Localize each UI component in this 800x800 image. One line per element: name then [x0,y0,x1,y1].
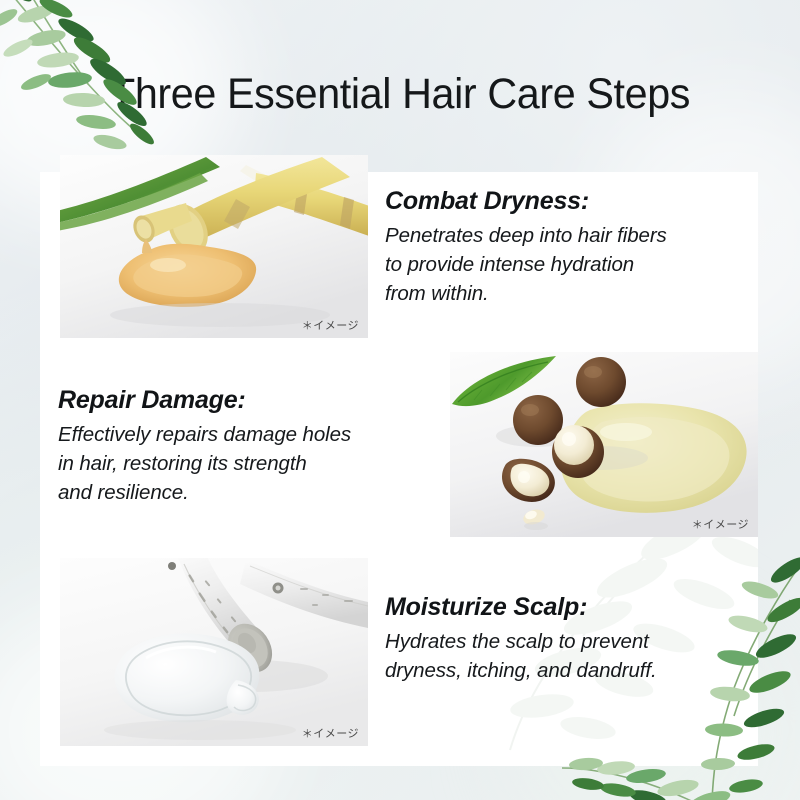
step-2-heading: Repair Damage: [58,385,428,415]
step-2-image: ＊イメージ [450,352,758,537]
step-3-image: ＊イメージ [60,558,368,746]
image-caption: ＊イメージ [302,725,359,741]
step-1-body: Penetrates deep into hair fibers to prov… [385,221,735,308]
page-title: Three Essential Hair Care Steps [110,66,705,122]
step-1-image: ＊イメージ [60,155,368,338]
birch-gel-illustration [60,558,368,746]
image-caption: ＊イメージ [692,516,749,532]
step-2-body: Effectively repairs damage holes in hair… [58,420,428,507]
step-1-heading: Combat Dryness: [385,186,735,216]
step-2-copy: Repair Damage: Effectively repairs damag… [58,385,428,507]
step-3-heading: Moisturize Scalp: [385,592,740,622]
sugarcane-syrup-illustration [60,155,368,338]
poster-canvas: Three Essential Hair Care Steps [0,0,800,800]
step-1-copy: Combat Dryness: Penetrates deep into hai… [385,186,735,308]
step-3-body: Hydrates the scalp to prevent dryness, i… [385,627,740,685]
step-3-copy: Moisturize Scalp: Hydrates the scalp to … [385,592,740,685]
macadamia-oil-illustration [450,352,758,537]
image-caption: ＊イメージ [302,317,359,333]
